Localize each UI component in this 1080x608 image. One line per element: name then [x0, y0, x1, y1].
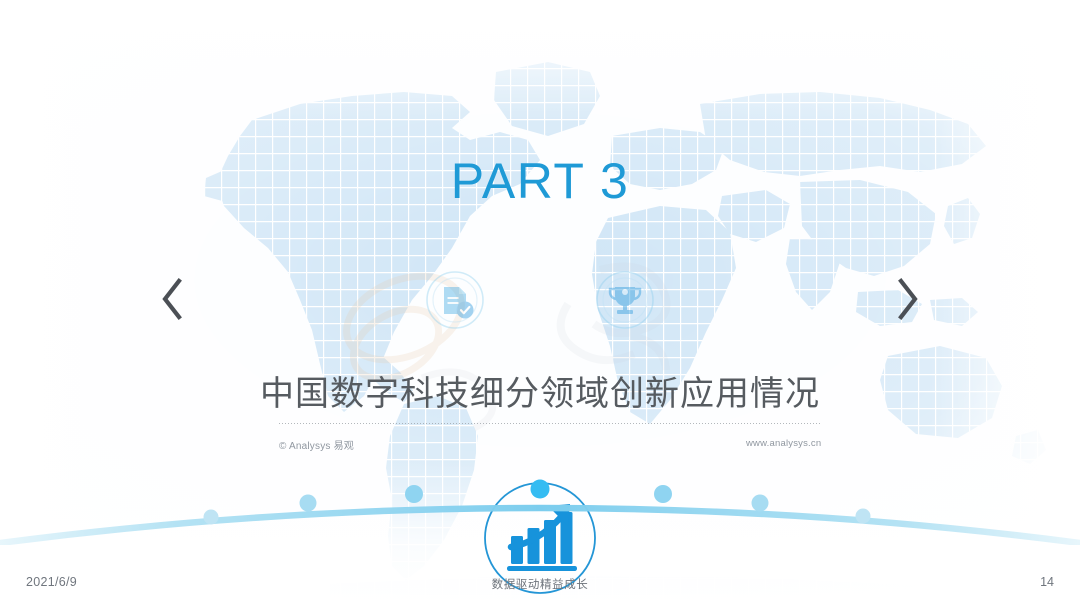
- copyright-text: © Analysys 易观: [279, 437, 354, 452]
- progress-dot[interactable]: [405, 485, 423, 503]
- footer-page-number: 14: [1040, 575, 1054, 589]
- progress-dot[interactable]: [300, 495, 317, 512]
- progress-dot[interactable]: [204, 510, 219, 525]
- part-label: PART 3: [0, 152, 1080, 210]
- document-check-icon: [424, 269, 486, 331]
- page-title: 中国数字科技细分领域创新应用情况: [0, 372, 1080, 416]
- website-url[interactable]: www.analysys.cn: [746, 438, 821, 449]
- footer-slogan: 数据驱动精益成长: [0, 576, 1080, 592]
- progress-dot-active[interactable]: [531, 480, 550, 499]
- slide-footer: 2021/6/9 数据驱动精益成长 14: [0, 564, 1080, 608]
- progress-dot[interactable]: [856, 509, 871, 524]
- progress-dot[interactable]: [654, 485, 672, 503]
- slide-canvas: PART 3: [0, 0, 1080, 608]
- icon-cluster: [0, 238, 1080, 362]
- title-divider: [279, 423, 821, 424]
- progress-dot[interactable]: [752, 495, 769, 512]
- map-top-fade: [0, 0, 1080, 120]
- trophy-icon: [594, 269, 656, 331]
